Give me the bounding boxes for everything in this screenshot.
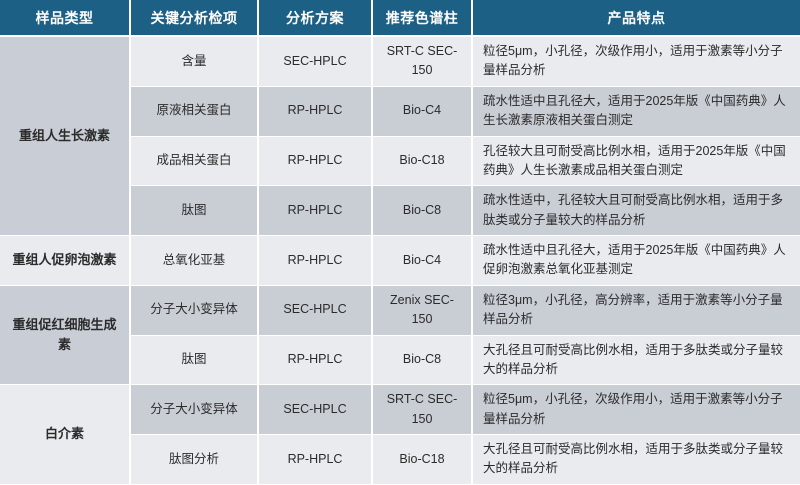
table-row: 重组人生长激素含量SEC-HPLCSRT-C SEC-150粒径5μm，小孔径，… — [0, 36, 800, 86]
cell-method: RP-HPLC — [258, 335, 372, 385]
column-header-column: 推荐色谱柱 — [372, 0, 472, 36]
header-row: 样品类型 关键分析检项 分析方案 推荐色谱柱 产品特点 — [0, 0, 800, 36]
cell-features: 孔径较大且可耐受高比例水相，适用于2025年版《中国药典》人生长激素成品相关蛋白… — [472, 136, 800, 186]
cell-features: 疏水性适中且孔径大，适用于2025年版《中国药典》人促卵泡激素总氧化亚基测定 — [472, 236, 800, 286]
cell-column: SRT-C SEC-150 — [372, 385, 472, 435]
cell-method: SEC-HPLC — [258, 385, 372, 435]
cell-column: SRT-C SEC-150 — [372, 36, 472, 86]
cell-sample-type: 重组人促卵泡激素 — [0, 236, 130, 286]
cell-key-test: 成品相关蛋白 — [130, 136, 258, 186]
cell-method: RP-HPLC — [258, 236, 372, 286]
cell-key-test: 肽图 — [130, 335, 258, 385]
cell-features: 大孔径且可耐受高比例水相，适用于多肽类或分子量较大的样品分析 — [472, 435, 800, 485]
cell-column: Bio-C18 — [372, 136, 472, 186]
cell-column: Bio-C4 — [372, 86, 472, 136]
cell-features: 粒径5μm，小孔径，次级作用小，适用于激素等小分子量样品分析 — [472, 36, 800, 86]
table-row: 白介素分子大小变异体SEC-HPLCSRT-C SEC-150粒径5μm，小孔径… — [0, 385, 800, 435]
cell-column: Bio-C18 — [372, 435, 472, 485]
table-header: 样品类型 关键分析检项 分析方案 推荐色谱柱 产品特点 — [0, 0, 800, 36]
cell-key-test: 分子大小变异体 — [130, 285, 258, 335]
cell-key-test: 分子大小变异体 — [130, 385, 258, 435]
cell-features: 疏水性适中且孔径大，适用于2025年版《中国药典》人生长激素原液相关蛋白测定 — [472, 86, 800, 136]
column-header-key-test: 关键分析检项 — [130, 0, 258, 36]
cell-method: RP-HPLC — [258, 186, 372, 236]
cell-key-test: 肽图 — [130, 186, 258, 236]
cell-features: 大孔径且可耐受高比例水相，适用于多肽类或分子量较大的样品分析 — [472, 335, 800, 385]
cell-column: Bio-C8 — [372, 335, 472, 385]
cell-column: Bio-C4 — [372, 236, 472, 286]
column-header-method: 分析方案 — [258, 0, 372, 36]
table-row: 重组促红细胞生成素分子大小变异体SEC-HPLCZenix SEC-150粒径3… — [0, 285, 800, 335]
chromatography-spec-table: 样品类型 关键分析检项 分析方案 推荐色谱柱 产品特点 重组人生长激素含量SEC… — [0, 0, 800, 485]
cell-method: SEC-HPLC — [258, 285, 372, 335]
cell-sample-type: 白介素 — [0, 385, 130, 485]
cell-column: Bio-C8 — [372, 186, 472, 236]
cell-sample-type: 重组促红细胞生成素 — [0, 285, 130, 385]
cell-method: RP-HPLC — [258, 86, 372, 136]
cell-method: RP-HPLC — [258, 435, 372, 485]
cell-sample-type: 重组人生长激素 — [0, 36, 130, 236]
table-row: 重组人促卵泡激素总氧化亚基RP-HPLCBio-C4疏水性适中且孔径大，适用于2… — [0, 236, 800, 286]
table-body: 重组人生长激素含量SEC-HPLCSRT-C SEC-150粒径5μm，小孔径，… — [0, 36, 800, 484]
cell-key-test: 含量 — [130, 36, 258, 86]
cell-method: RP-HPLC — [258, 136, 372, 186]
cell-key-test: 原液相关蛋白 — [130, 86, 258, 136]
cell-features: 疏水性适中，孔径较大且可耐受高比例水相，适用于多肽类或分子量较大的样品分析 — [472, 186, 800, 236]
cell-method: SEC-HPLC — [258, 36, 372, 86]
spec-table-container: 样品类型 关键分析检项 分析方案 推荐色谱柱 产品特点 重组人生长激素含量SEC… — [0, 0, 800, 408]
cell-features: 粒径5μm，小孔径，次级作用小，适用于激素等小分子量样品分析 — [472, 385, 800, 435]
cell-key-test: 肽图分析 — [130, 435, 258, 485]
column-header-sample-type: 样品类型 — [0, 0, 130, 36]
column-header-features: 产品特点 — [472, 0, 800, 36]
cell-features: 粒径3μm，小孔径，高分辨率，适用于激素等小分子量样品分析 — [472, 285, 800, 335]
cell-column: Zenix SEC-150 — [372, 285, 472, 335]
cell-key-test: 总氧化亚基 — [130, 236, 258, 286]
